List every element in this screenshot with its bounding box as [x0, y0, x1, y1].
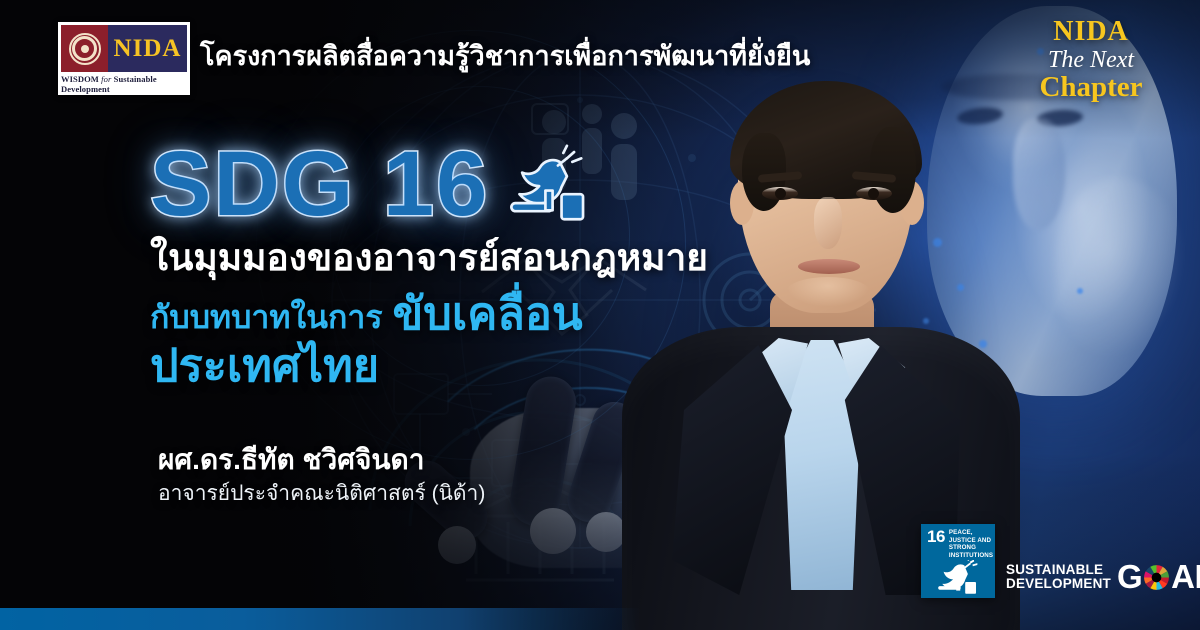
sdg-goal-line: SDG 16: [150, 138, 710, 230]
sdg-wordmark: SUSTAINABLE DEVELOPMENT G: [1006, 562, 1200, 592]
dove-and-gavel-icon: [503, 144, 595, 230]
speaker-role: อาจารย์ประจำคณะนิติศาสตร์ (นิด้า): [158, 481, 485, 507]
sdg-wordmark-line-2: DEVELOPMENT: [1006, 577, 1111, 591]
speaker-name: ผศ.ดร.ธีทัต ชวิศจินดา: [158, 443, 485, 477]
brandmark-line-2: The Next: [1016, 48, 1166, 72]
bottom-accent-bar: [0, 608, 640, 630]
headline-line-3-small: กับบทบาทในการ: [150, 300, 383, 339]
nida-logo-wordmark: NIDA: [114, 36, 182, 61]
promo-banner: NIDA WISDOM for Sustainable Development …: [0, 0, 1200, 630]
brandmark-line-3: Chapter: [1016, 73, 1166, 103]
brandmark-line-1: NIDA: [1016, 18, 1166, 47]
nida-logo: NIDA WISDOM for Sustainable Development: [58, 22, 190, 95]
sdg-wordmark-line-1: SUSTAINABLE: [1006, 563, 1111, 577]
sdg-wordmark-goals-pre: G: [1117, 562, 1142, 592]
sdg-16-badge: 16 PEACE, JUSTICE AND STRONG INSTITUTION…: [921, 524, 995, 598]
nida-crest-wheel-icon: [61, 25, 108, 72]
nida-logo-tagline: WISDOM for Sustainable Development: [61, 74, 187, 94]
sdg-goal-label: SDG 16: [150, 140, 489, 228]
sdg-badge-number: 16: [927, 529, 945, 545]
dove-and-gavel-icon: [934, 560, 982, 596]
sdg-color-wheel-icon: [1143, 564, 1170, 591]
headline-block: SDG 16 ในมุมมองของอาจารย์สอนกฎหมาย กับบท…: [150, 138, 710, 392]
headline-line-3: กับบทบาทในการ ขับเคลื่อน: [150, 290, 710, 339]
sdg-wordmark-goals-post: ALS: [1171, 562, 1200, 592]
headline-line-3-emphasis: ขับเคลื่อน: [393, 290, 583, 339]
sdg-badge-caption: PEACE, JUSTICE AND STRONG INSTITUTIONS: [949, 529, 993, 559]
headline-line-2: ในมุมมองของอาจารย์สอนกฎหมาย: [150, 236, 710, 280]
nida-next-chapter-brandmark: NIDA The Next Chapter: [1016, 18, 1166, 103]
headline-line-4: ประเทศไทย: [150, 340, 710, 392]
speaker-credit: ผศ.ดร.ธีทัต ชวิศจินดา อาจารย์ประจำคณะนิต…: [158, 443, 485, 507]
project-title: โครงการผลิตสื่อความรู้วิชาการเพื่อการพัฒ…: [200, 34, 810, 77]
